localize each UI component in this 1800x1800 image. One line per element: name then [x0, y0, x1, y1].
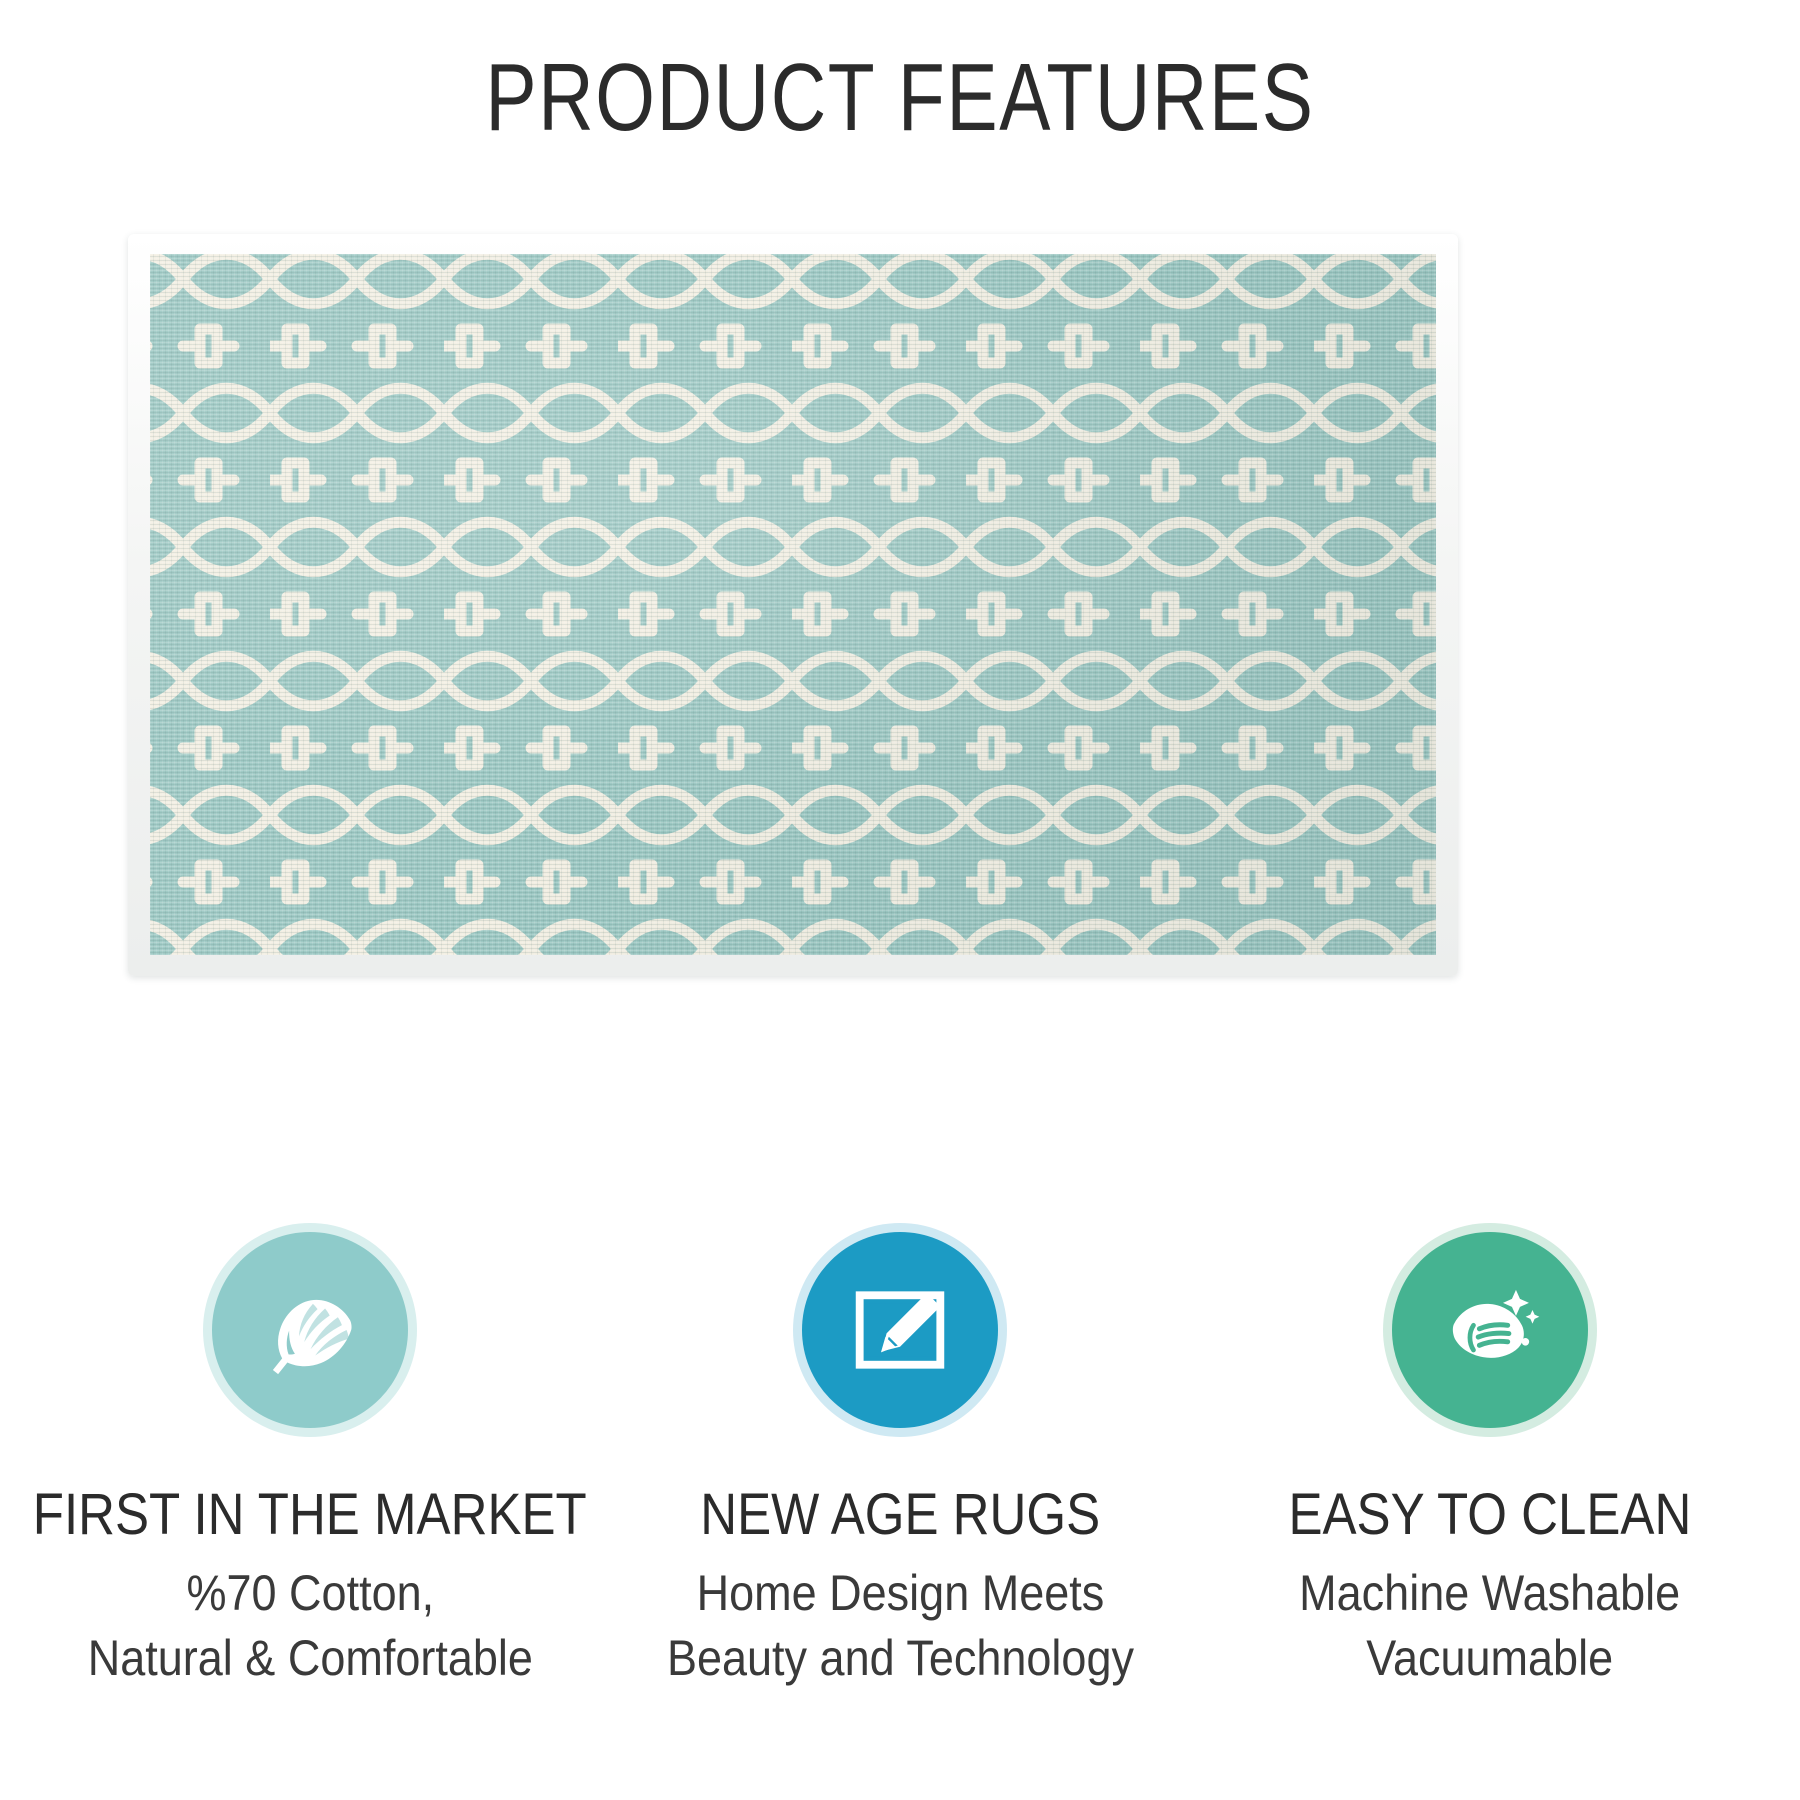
product-features-page: PRODUCT FEATURES [0, 0, 1800, 1800]
feature-desc-2: Home Design Meets Beauty and Technology [641, 1561, 1160, 1691]
feature-item-easy-to-clean: EASY TO CLEAN Machine Washable Vacuumabl… [1210, 1232, 1770, 1691]
design-pen-icon [844, 1274, 956, 1386]
feature-item-first-in-the-market: FIRST IN THE MARKET %70 Cotton, Natural … [30, 1232, 590, 1691]
rug-trellis-pattern [150, 254, 1436, 955]
feature-desc-1: %70 Cotton, Natural & Comfortable [63, 1561, 558, 1691]
feature-title-2: NEW AGE RUGS [700, 1484, 1100, 1545]
feature-list: FIRST IN THE MARKET %70 Cotton, Natural … [0, 1232, 1800, 1691]
feature-desc-3: Machine Washable Vacuumable [1278, 1561, 1701, 1691]
feature-desc-line: Home Design Meets [666, 1561, 1133, 1626]
rug-field [150, 254, 1436, 955]
feature-title-3: EASY TO CLEAN [1289, 1484, 1692, 1545]
feature-icon-badge-1 [212, 1232, 408, 1428]
page-title: PRODUCT FEATURES [180, 48, 1620, 149]
product-image-rug [128, 234, 1458, 976]
feature-desc-line: Vacuumable [1299, 1626, 1680, 1691]
feature-desc-line: Machine Washable [1299, 1561, 1680, 1626]
cleaning-hand-sparkle-icon [1431, 1271, 1549, 1389]
feature-item-new-age-rugs: NEW AGE RUGS Home Design Meets Beauty an… [620, 1232, 1180, 1691]
feather-icon [252, 1272, 368, 1388]
feature-desc-line: Natural & Comfortable [87, 1626, 532, 1691]
feature-desc-line: Beauty and Technology [666, 1626, 1133, 1691]
feature-desc-line: %70 Cotton, [87, 1561, 532, 1626]
feature-title-1: FIRST IN THE MARKET [33, 1484, 587, 1545]
feature-icon-badge-3 [1392, 1232, 1588, 1428]
feature-icon-badge-2 [802, 1232, 998, 1428]
